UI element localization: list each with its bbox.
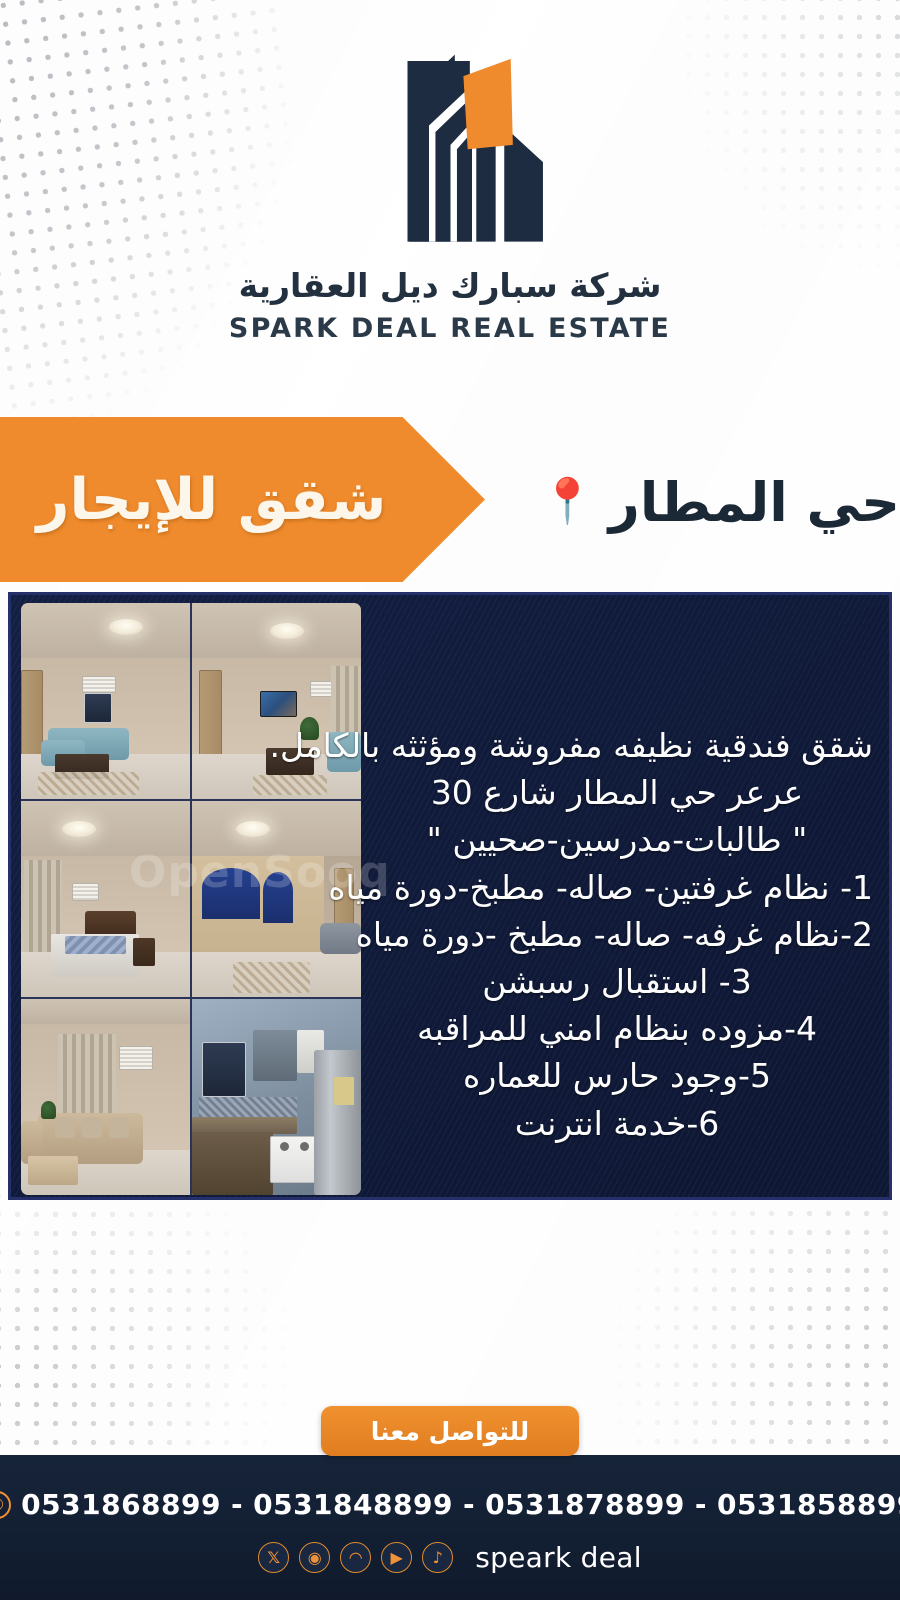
photo-bedroom-double-bed[interactable] bbox=[21, 801, 190, 997]
desc-line-4: 1- نظام غرفتين- صاله- مطبخ-دورة مياه bbox=[361, 865, 873, 910]
listing-description: شقق فندقية نظيفه مفروشة ومؤثثه بالكامل. … bbox=[361, 611, 873, 1148]
brand-header: شركة سبارك ديل العقارية SPARK DEAL REAL … bbox=[0, 46, 900, 344]
social-media-row: 𝕏 ◉ ◠ ▶ ♪ speark deal bbox=[0, 1541, 900, 1574]
listing-panel: شقق فندقية نظيفه مفروشة ومؤثثه بالكامل. … bbox=[8, 592, 892, 1200]
desc-line-7: 4-مزوده بنظام امني للمراقبه bbox=[361, 1006, 873, 1051]
footer-bar: ✆ 0531868899 - 0531848899 - 0531878899 -… bbox=[0, 1455, 900, 1600]
phone-number-3[interactable]: 0531878899 bbox=[485, 1488, 685, 1521]
desc-line-5: 2-نظام غرفه- صاله- مطبخ -دورة مياه bbox=[361, 912, 873, 957]
desc-line-8: 5-وجود حارس للعماره bbox=[361, 1053, 873, 1098]
social-handle: speark deal bbox=[475, 1541, 642, 1574]
brand-name-english: SPARK DEAL REAL ESTATE bbox=[229, 313, 671, 344]
brand-name-arabic: شركة سبارك ديل العقارية bbox=[239, 267, 662, 305]
ribbon-label: شقق للإيجار bbox=[37, 467, 387, 533]
map-pin-icon: 📍 bbox=[540, 480, 595, 524]
tiktok-icon[interactable]: ♪ bbox=[422, 1542, 453, 1573]
phone-number-2[interactable]: 0531848899 bbox=[253, 1488, 453, 1521]
phone-icon: ✆ bbox=[0, 1491, 11, 1519]
phone-separator-2: - bbox=[463, 1488, 475, 1521]
desc-line-1: شقق فندقية نظيفه مفروشة ومؤثثه بالكامل. bbox=[361, 723, 873, 768]
building-logo-icon bbox=[343, 46, 558, 261]
phone-number-4[interactable]: 0531858899 bbox=[717, 1488, 900, 1521]
desc-line-3: " طالبات-مدرسين-صحيين " bbox=[361, 817, 873, 862]
desc-line-2: عرعر حي المطار شارع 30 bbox=[361, 770, 873, 815]
advertisement-page: شركة سبارك ديل العقارية SPARK DEAL REAL … bbox=[0, 0, 900, 1600]
contact-us-label: للتواصل معنا bbox=[371, 1417, 529, 1446]
phone-number-1[interactable]: 0531868899 bbox=[21, 1488, 221, 1521]
photo-living-room-teal-sofa[interactable] bbox=[21, 603, 190, 799]
snapchat-icon[interactable]: ◠ bbox=[340, 1542, 371, 1573]
desc-line-6: 3- استقبال رسبشن bbox=[361, 959, 873, 1004]
phone-numbers-row: ✆ 0531868899 - 0531848899 - 0531878899 -… bbox=[0, 1488, 900, 1521]
photo-living-room-tv[interactable] bbox=[192, 603, 361, 799]
phone-separator-1: - bbox=[231, 1488, 243, 1521]
x-twitter-icon[interactable]: 𝕏 bbox=[258, 1542, 289, 1573]
photo-living-room-beige-sofa[interactable] bbox=[21, 999, 190, 1195]
youtube-icon[interactable]: ▶ bbox=[381, 1542, 412, 1573]
desc-line-9: 6-خدمة انترنت bbox=[361, 1101, 873, 1146]
phone-separator-3: - bbox=[695, 1488, 707, 1521]
property-photo-collage bbox=[21, 603, 361, 1195]
photo-kitchen-fridge-stove[interactable] bbox=[192, 999, 361, 1195]
location-heading: حي المطار 📍 bbox=[540, 452, 875, 552]
location-label: حي المطار bbox=[609, 471, 900, 534]
instagram-icon[interactable]: ◉ bbox=[299, 1542, 330, 1573]
apartments-for-rent-ribbon: شقق للإيجار bbox=[0, 417, 485, 582]
contact-us-button[interactable]: للتواصل معنا bbox=[321, 1406, 579, 1456]
